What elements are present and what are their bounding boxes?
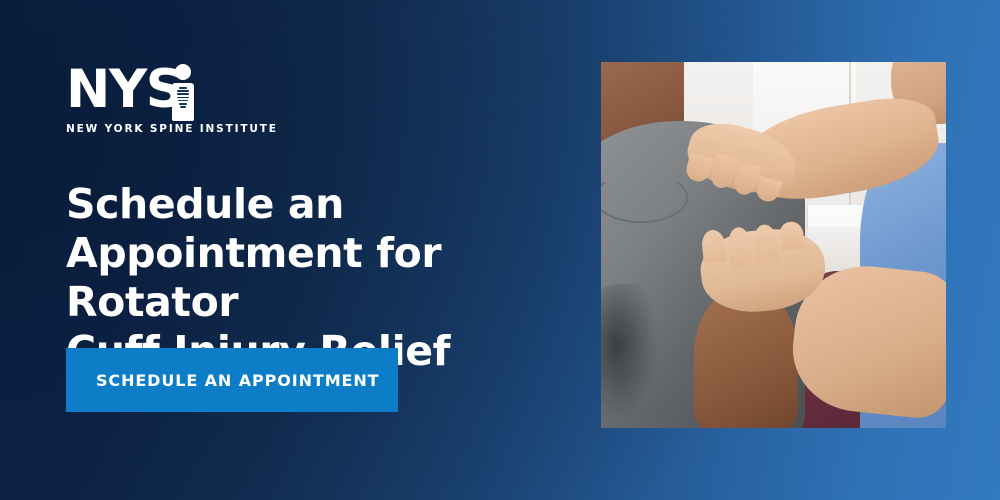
promo-banner: NYS NEW YORK SPINE INSTITUTE Schedule an… (0, 0, 1000, 500)
photo-shirt-shading (601, 284, 673, 428)
nysi-logo[interactable]: NYS NEW YORK SPINE INSTITUTE (66, 66, 296, 135)
logo-mark: NYS (66, 66, 266, 118)
headline-line-2: Appointment for Rotator (66, 229, 586, 327)
logo-i-dot (175, 64, 191, 80)
left-content-column: NYS NEW YORK SPINE INSTITUTE Schedule an… (66, 0, 566, 500)
vertebrae-icon (177, 87, 189, 111)
photo-scene (601, 62, 946, 428)
logo-wordmark: NYS (66, 62, 182, 118)
spine-i-icon (172, 68, 194, 120)
headline-line-1: Schedule an (66, 180, 586, 229)
page-title: Schedule an Appointment for Rotator Cuff… (66, 180, 586, 376)
logo-tagline: NEW YORK SPINE INSTITUTE (66, 123, 296, 135)
hero-photo (601, 62, 946, 428)
schedule-appointment-button[interactable]: SCHEDULE AN APPOINTMENT (66, 348, 398, 412)
